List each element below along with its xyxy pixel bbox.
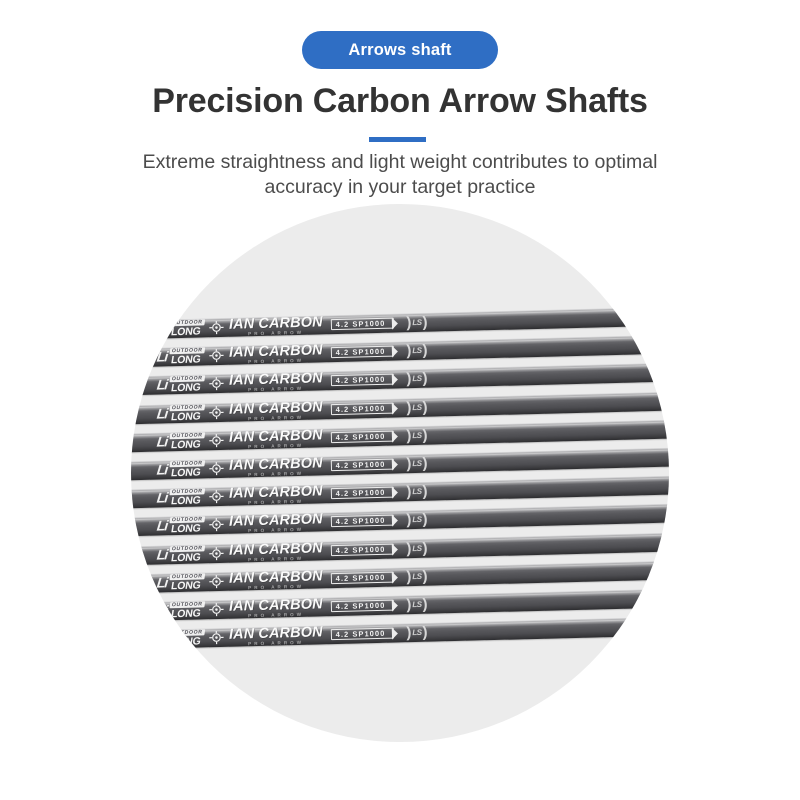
brand-text-stack: OUTDOOR LONG [168, 545, 205, 563]
brand-name: LONG [168, 636, 204, 647]
brand-lockup: Li OUTDOOR LONG [157, 432, 205, 450]
arrow-shaft: Li OUTDOOR LONG IAN CARBON PRO ARROW 4.2… [131, 587, 669, 623]
brand-lockup: Li OUTDOOR LONG [157, 488, 205, 506]
shaft-markings: Li OUTDOOR LONG IAN CARBON PRO ARROW 4.2… [157, 567, 428, 593]
brand-slash-mark: Li [156, 377, 168, 393]
arrow-shaft: Li OUTDOOR LONG IAN CARBON PRO ARROW 4.2… [131, 361, 669, 397]
page-subtitle: Extreme straightness and light weight co… [100, 150, 700, 200]
endmark-bracket-right: ) [422, 624, 427, 641]
spec-plate: 4.2 SP1000 [331, 628, 395, 641]
endmark-bracket-right: ) [422, 539, 427, 556]
crosshair-icon [209, 433, 224, 448]
crosshair-icon [209, 630, 224, 645]
endmark-signature: LS [412, 318, 421, 327]
endmark-bracket-left: ) [406, 512, 411, 529]
brand-text-stack: OUTDOOR LONG [168, 404, 205, 422]
arrow-shaft: Li OUTDOOR LONG IAN CARBON PRO ARROW 4.2… [131, 305, 669, 341]
arrow-shaft: Li OUTDOOR LONG IAN CARBON PRO ARROW 4.2… [131, 446, 669, 482]
endmark-bracket-right: ) [422, 596, 427, 613]
endmark-bracket-right: ) [422, 427, 427, 444]
brand-lockup: Li OUTDOOR LONG [157, 404, 205, 422]
shaft-endmark: ) LS ) [406, 596, 428, 614]
brand-slash-mark: Li [156, 405, 168, 421]
shaft-markings: Li OUTDOOR LONG IAN CARBON PRO ARROW 4.2… [157, 510, 428, 536]
product-wordmark-main: IAN CARBON [229, 400, 323, 417]
product-wordmark: IAN CARBON PRO ARROW [229, 343, 323, 365]
brand-name: LONG [168, 411, 204, 422]
shaft-endmark: ) LS ) [406, 342, 428, 360]
brand-lockup: Li OUTDOOR LONG [157, 319, 205, 337]
endmark-bracket-left: ) [406, 568, 411, 585]
product-wordmark-sub: PRO ARROW [229, 640, 323, 647]
product-wordmark-sub: PRO ARROW [229, 499, 323, 506]
endmark-bracket-left: ) [406, 455, 411, 472]
page-subtitle-line-2: accuracy in your target practice [100, 175, 700, 200]
endmark-bracket-left: ) [406, 624, 411, 641]
product-wordmark: IAN CARBON PRO ARROW [229, 456, 323, 478]
brand-slash-mark: Li [156, 631, 168, 647]
brand-lockup: Li OUTDOOR LONG [157, 460, 205, 478]
endmark-signature: LS [412, 459, 421, 468]
brand-slash-mark: Li [156, 575, 168, 591]
crosshair-icon [209, 574, 224, 589]
product-wordmark-sub: PRO ARROW [229, 471, 323, 478]
spec-plate: 4.2 SP1000 [331, 402, 395, 415]
spec-plate: 4.2 SP1000 [331, 543, 395, 556]
shaft-endmark: ) LS ) [406, 427, 428, 445]
brand-name: LONG [168, 580, 204, 591]
brand-text-stack: OUTDOOR LONG [168, 460, 205, 478]
brand-name: LONG [168, 552, 204, 563]
brand-name: LONG [168, 326, 204, 337]
product-wordmark-sub: PRO ARROW [229, 386, 323, 393]
shaft-markings: Li OUTDOOR LONG IAN CARBON PRO ARROW 4.2… [157, 397, 428, 423]
brand-lockup: Li OUTDOOR LONG [157, 629, 205, 647]
shaft-endmark: ) LS ) [406, 455, 428, 473]
brand-slash-mark: Li [156, 462, 168, 478]
brand-slash-mark: Li [156, 434, 168, 450]
brand-slash-mark: Li [156, 603, 168, 619]
brand-text-stack: OUTDOOR LONG [168, 376, 205, 394]
product-wordmark: IAN CARBON PRO ARROW [229, 400, 323, 422]
product-wordmark: IAN CARBON PRO ARROW [229, 512, 323, 534]
endmark-signature: LS [412, 600, 421, 609]
brand-name: LONG [168, 495, 204, 506]
endmark-signature: LS [412, 431, 421, 440]
brand-name: LONG [168, 439, 204, 450]
brand-text-stack: OUTDOOR LONG [168, 629, 205, 647]
page-title: Precision Carbon Arrow Shafts [0, 82, 800, 121]
crosshair-icon [209, 602, 224, 617]
shaft-markings: Li OUTDOOR LONG IAN CARBON PRO ARROW 4.2… [157, 369, 428, 395]
spec-plate: 4.2 SP1000 [331, 374, 395, 387]
crosshair-icon [209, 517, 224, 532]
endmark-signature: LS [412, 402, 421, 411]
brand-lockup: Li OUTDOOR LONG [157, 347, 205, 365]
shaft-endmark: ) LS ) [406, 483, 428, 501]
crosshair-icon [209, 404, 224, 419]
endmark-signature: LS [412, 572, 421, 581]
brand-slash-mark: Li [156, 518, 168, 534]
shaft-markings: Li OUTDOOR LONG IAN CARBON PRO ARROW 4.2… [157, 426, 428, 452]
category-badge: Arrows shaft [302, 31, 498, 69]
arrow-shaft: Li OUTDOOR LONG IAN CARBON PRO ARROW 4.2… [131, 418, 669, 454]
brand-text-stack: OUTDOOR LONG [168, 432, 205, 450]
endmark-signature: LS [412, 487, 421, 496]
endmark-signature: LS [412, 374, 421, 383]
shaft-markings: Li OUTDOOR LONG IAN CARBON PRO ARROW 4.2… [157, 482, 428, 508]
category-badge-label: Arrows shaft [348, 41, 451, 60]
shaft-markings: Li OUTDOOR LONG IAN CARBON PRO ARROW 4.2… [157, 623, 428, 649]
product-wordmark: IAN CARBON PRO ARROW [229, 597, 323, 619]
brand-slash-mark: Li [156, 490, 168, 506]
brand-slash-mark: Li [156, 321, 168, 337]
brand-lockup: Li OUTDOOR LONG [157, 376, 205, 394]
arrow-shaft-stack: Li OUTDOOR LONG IAN CARBON PRO ARROW 4.2… [131, 204, 669, 742]
shaft-markings: Li OUTDOOR LONG IAN CARBON PRO ARROW 4.2… [157, 341, 428, 367]
product-wordmark-main: IAN CARBON [229, 597, 323, 614]
endmark-bracket-left: ) [406, 371, 411, 388]
crosshair-icon [209, 376, 224, 391]
brand-text-stack: OUTDOOR LONG [168, 573, 205, 591]
spec-plate: 4.2 SP1000 [331, 571, 395, 584]
endmark-bracket-right: ) [422, 370, 427, 387]
endmark-bracket-right: ) [422, 314, 427, 331]
brand-lockup: Li OUTDOOR LONG [157, 545, 205, 563]
spec-plate: 4.2 SP1000 [331, 430, 395, 443]
arrow-shaft: Li OUTDOOR LONG IAN CARBON PRO ARROW 4.2… [131, 615, 669, 651]
product-photo-circle: Li OUTDOOR LONG IAN CARBON PRO ARROW 4.2… [131, 204, 669, 742]
brand-text-stack: OUTDOOR LONG [168, 488, 205, 506]
arrow-shaft: Li OUTDOOR LONG IAN CARBON PRO ARROW 4.2… [131, 502, 669, 538]
brand-name: LONG [168, 467, 204, 478]
shaft-markings: Li OUTDOOR LONG IAN CARBON PRO ARROW 4.2… [157, 595, 428, 621]
spec-plate: 4.2 SP1000 [331, 318, 395, 331]
shaft-markings: Li OUTDOOR LONG IAN CARBON PRO ARROW 4.2… [157, 538, 428, 564]
shaft-markings: Li OUTDOOR LONG IAN CARBON PRO ARROW 4.2… [157, 454, 428, 480]
arrow-shaft: Li OUTDOOR LONG IAN CARBON PRO ARROW 4.2… [131, 389, 669, 425]
page-subtitle-line-1: Extreme straightness and light weight co… [100, 150, 700, 175]
arrow-shaft: Li OUTDOOR LONG IAN CARBON PRO ARROW 4.2… [131, 559, 669, 595]
product-wordmark: IAN CARBON PRO ARROW [229, 315, 323, 337]
shaft-markings: Li OUTDOOR LONG IAN CARBON PRO ARROW 4.2… [157, 313, 428, 339]
endmark-bracket-right: ) [422, 483, 427, 500]
product-wordmark-sub: PRO ARROW [229, 358, 323, 365]
spec-plate: 4.2 SP1000 [331, 459, 395, 472]
crosshair-icon [209, 461, 224, 476]
endmark-bracket-right: ) [422, 455, 427, 472]
shaft-endmark: ) LS ) [406, 568, 428, 586]
brand-slash-mark: Li [156, 546, 168, 562]
shaft-endmark: ) LS ) [406, 539, 428, 557]
brand-text-stack: OUTDOOR LONG [168, 601, 205, 619]
shaft-endmark: ) LS ) [406, 370, 428, 388]
endmark-bracket-right: ) [422, 342, 427, 359]
endmark-bracket-left: ) [406, 399, 411, 416]
brand-lockup: Li OUTDOOR LONG [157, 601, 205, 619]
product-wordmark-main: IAN CARBON [229, 428, 323, 445]
spec-plate: 4.2 SP1000 [331, 346, 395, 359]
product-wordmark-main: IAN CARBON [229, 541, 323, 558]
endmark-bracket-right: ) [422, 398, 427, 415]
spec-plate: 4.2 SP1000 [331, 515, 395, 528]
endmark-signature: LS [412, 543, 421, 552]
crosshair-icon [209, 320, 224, 335]
product-wordmark-sub: PRO ARROW [229, 612, 323, 619]
product-wordmark: IAN CARBON PRO ARROW [229, 569, 323, 591]
endmark-bracket-left: ) [406, 596, 411, 613]
product-wordmark-main: IAN CARBON [229, 569, 323, 586]
endmark-bracket-left: ) [406, 483, 411, 500]
product-banner: Arrows shaft Precision Carbon Arrow Shaf… [0, 0, 800, 800]
arrow-shaft: Li OUTDOOR LONG IAN CARBON PRO ARROW 4.2… [131, 530, 669, 566]
endmark-bracket-left: ) [406, 342, 411, 359]
brand-text-stack: OUTDOOR LONG [168, 319, 205, 337]
title-divider [369, 137, 426, 142]
endmark-bracket-left: ) [406, 314, 411, 331]
product-wordmark: IAN CARBON PRO ARROW [229, 371, 323, 393]
brand-slash-mark: Li [156, 349, 168, 365]
shaft-endmark: ) LS ) [406, 398, 428, 416]
brand-name: LONG [168, 523, 204, 534]
brand-lockup: Li OUTDOOR LONG [157, 573, 205, 591]
product-wordmark: IAN CARBON PRO ARROW [229, 484, 323, 506]
brand-name: LONG [168, 608, 204, 619]
endmark-bracket-right: ) [422, 511, 427, 528]
crosshair-icon [209, 348, 224, 363]
brand-lockup: Li OUTDOOR LONG [157, 517, 205, 535]
product-wordmark: IAN CARBON PRO ARROW [229, 428, 323, 450]
endmark-bracket-left: ) [406, 540, 411, 557]
endmark-signature: LS [412, 628, 421, 637]
spec-plate: 4.2 SP1000 [331, 600, 395, 613]
crosshair-icon [209, 545, 224, 560]
brand-text-stack: OUTDOOR LONG [168, 517, 205, 535]
product-wordmark-sub: PRO ARROW [229, 330, 323, 337]
endmark-bracket-right: ) [422, 568, 427, 585]
brand-name: LONG [168, 354, 204, 365]
product-wordmark: IAN CARBON PRO ARROW [229, 541, 323, 563]
shaft-endmark: ) LS ) [406, 511, 428, 529]
endmark-bracket-left: ) [406, 427, 411, 444]
brand-text-stack: OUTDOOR LONG [168, 347, 205, 365]
brand-name: LONG [168, 382, 204, 393]
product-wordmark-main: IAN CARBON [229, 456, 323, 473]
endmark-signature: LS [412, 346, 421, 355]
product-wordmark-main: IAN CARBON [229, 315, 323, 332]
spec-plate: 4.2 SP1000 [331, 487, 395, 500]
endmark-signature: LS [412, 515, 421, 524]
product-wordmark: IAN CARBON PRO ARROW [229, 625, 323, 647]
shaft-endmark: ) LS ) [406, 624, 428, 642]
crosshair-icon [209, 489, 224, 504]
product-wordmark-sub: PRO ARROW [229, 527, 323, 534]
shaft-endmark: ) LS ) [406, 314, 428, 332]
